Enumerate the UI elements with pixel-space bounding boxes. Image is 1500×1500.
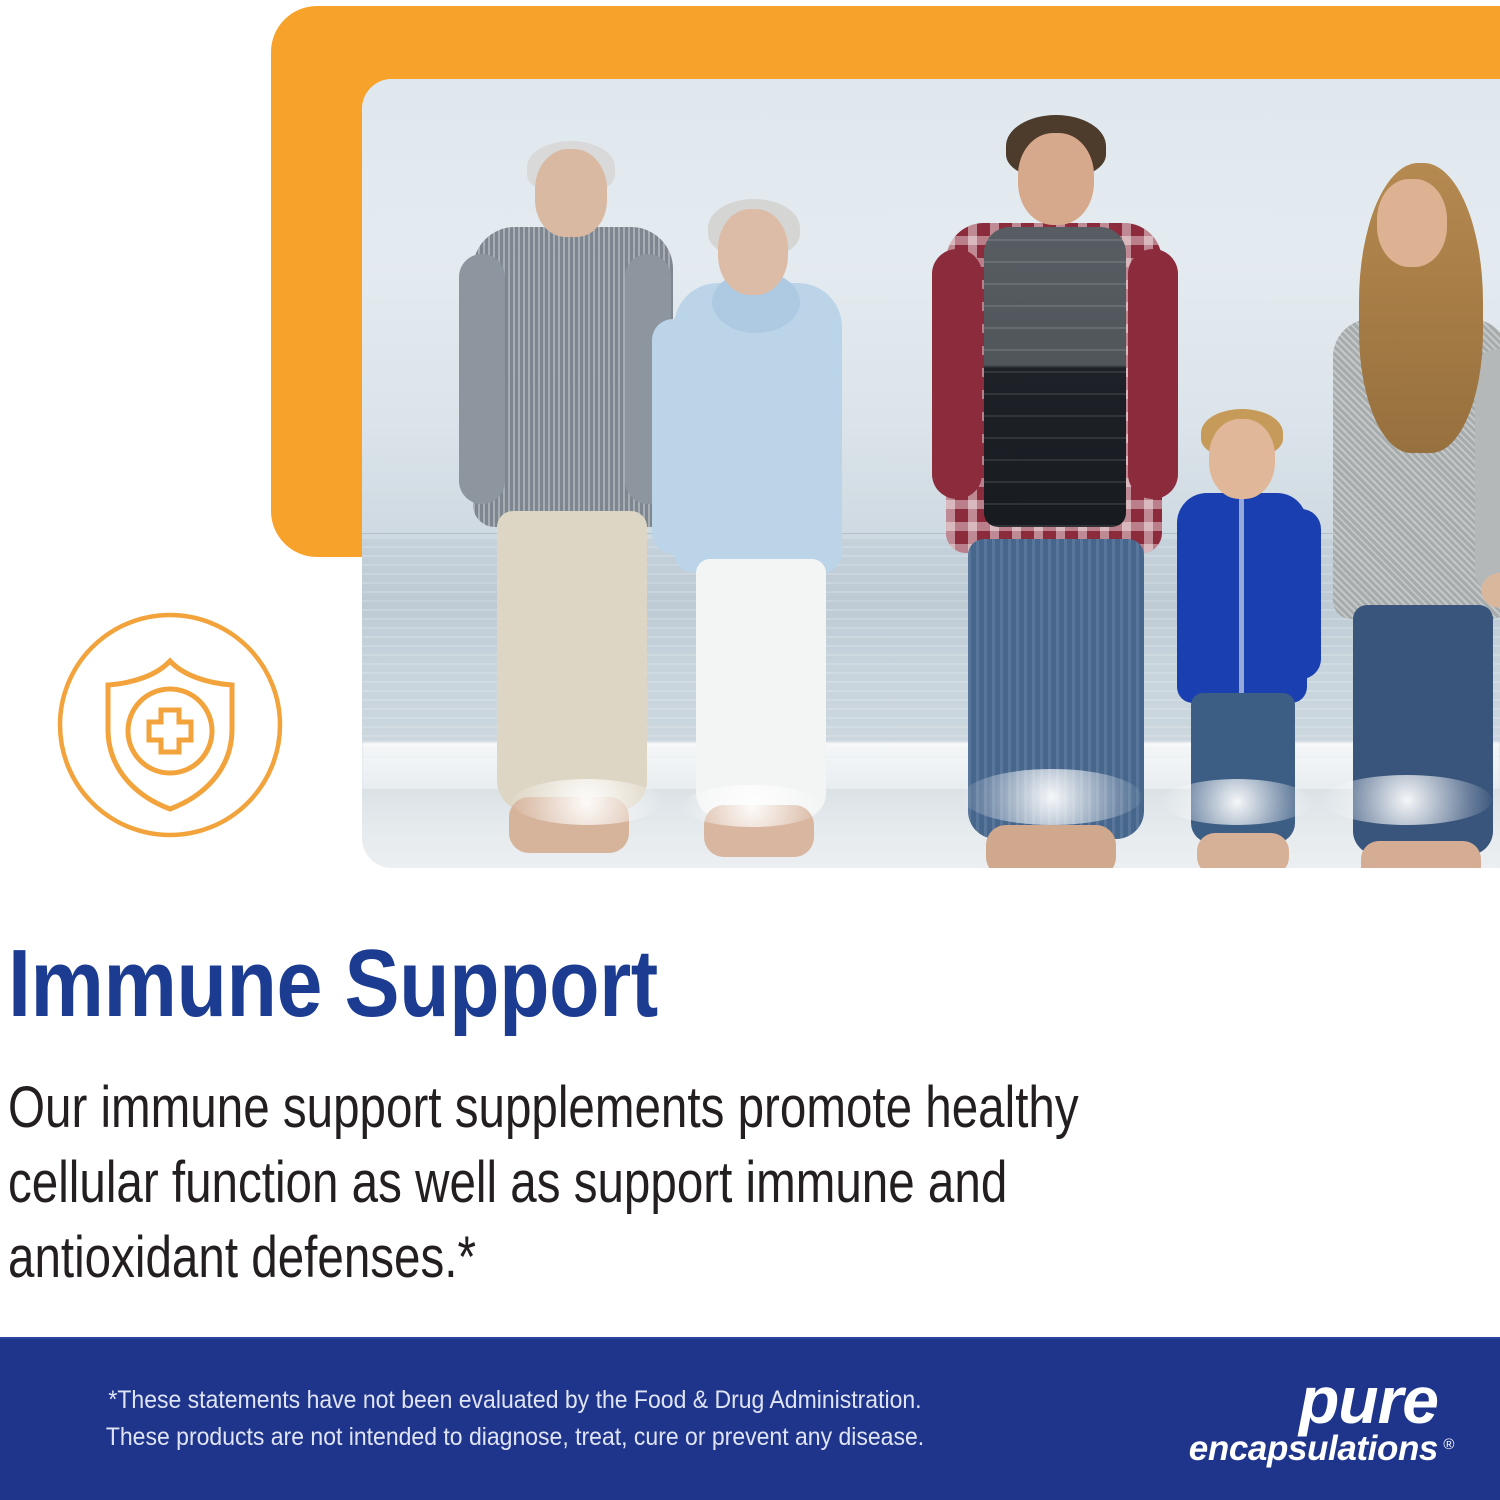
page-title: Immune Support (8, 930, 1205, 1038)
pure-encapsulations-logo: pure encapsulations ® (1189, 1370, 1438, 1468)
photo-water-splash (512, 779, 662, 825)
photo-water-splash (682, 785, 822, 827)
family-walking-on-beach-photo (362, 79, 1500, 868)
photo-person-father (932, 119, 1182, 868)
photo-person-girl (1492, 509, 1500, 868)
page-description: Our immune support supplements promote h… (8, 1070, 1149, 1295)
photo-person-mother (1317, 169, 1500, 868)
footer-top-divider (0, 1337, 1500, 1339)
footer-bar: *These statements have not been evaluate… (0, 1337, 1500, 1500)
immune-shield-cross-icon (56, 611, 284, 839)
logo-wordmark-pure: pure (1189, 1370, 1438, 1430)
logo-wordmark-encapsulations-text: encapsulations (1189, 1429, 1438, 1468)
registered-trademark-icon: ® (1443, 1426, 1454, 1464)
photo-person-grandmother (652, 209, 867, 859)
fda-disclaimer-text: *These statements have not been evaluate… (50, 1382, 979, 1456)
photo-water-splash (1322, 775, 1492, 825)
hero-section (0, 0, 1500, 900)
logo-wordmark-encapsulations: encapsulations ® (1189, 1430, 1438, 1468)
photo-water-splash (962, 769, 1142, 825)
main-text-block: Immune Support Our immune support supple… (0, 930, 1400, 1295)
photo-water-splash (1162, 779, 1312, 825)
